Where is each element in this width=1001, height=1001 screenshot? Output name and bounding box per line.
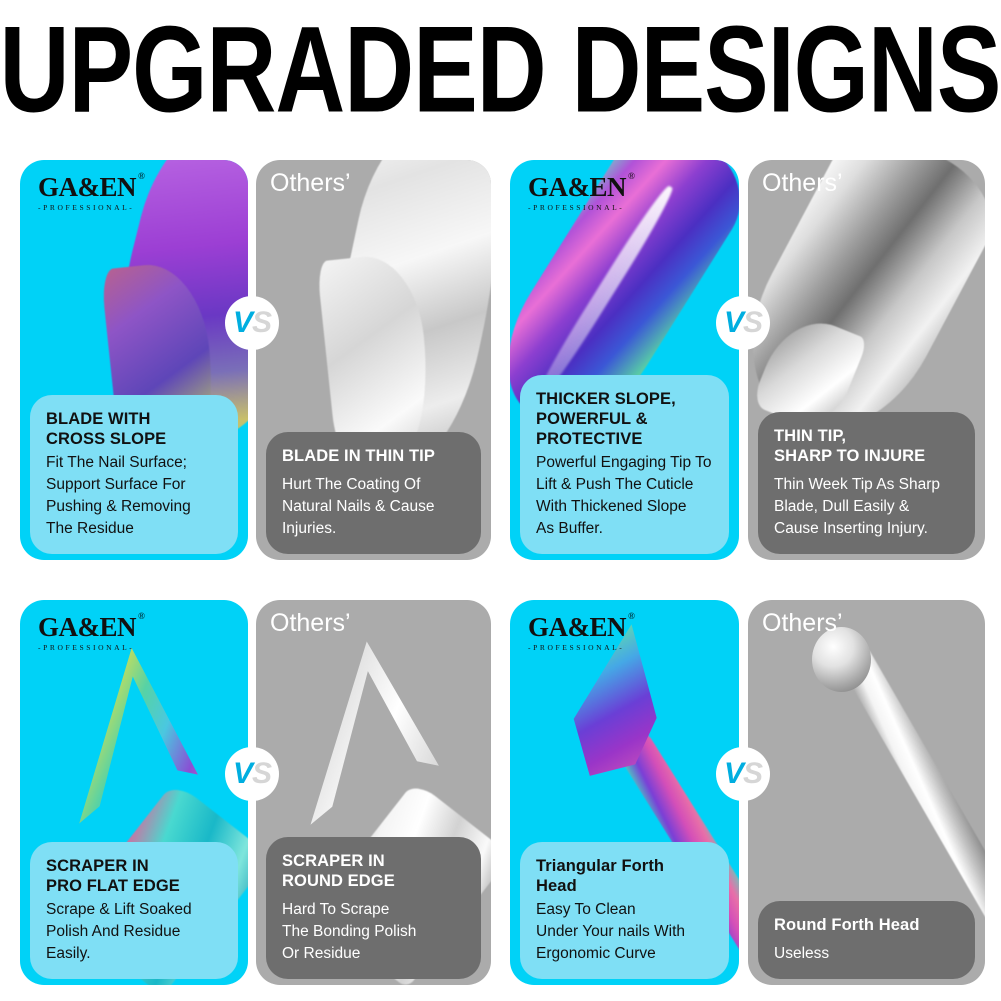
registered-trademark-icon: ® [138,172,145,181]
brand-logo: GA&EN ® -PROFESSIONAL- [38,614,136,652]
caption-body: Powerful Engaging Tip To Lift & Push The… [536,452,715,540]
vs-letter-v: V [233,759,252,789]
vs-badge: VS [716,747,770,801]
caption-box: THICKER SLOPE, POWERFUL & PROTECTIVE Pow… [520,375,729,554]
brand-logo-subtitle: -PROFESSIONAL- [38,644,136,652]
brand-logo: GA&EN ® -PROFESSIONAL- [528,174,626,212]
brand-logo: GA&EN ® -PROFESSIONAL- [38,174,136,212]
caption-body: Fit The Nail Surface; Support Surface Fo… [46,452,224,540]
vs-letter-v: V [724,308,743,338]
brand-logo: GA&EN ® -PROFESSIONAL- [528,614,626,652]
vs-badge: VS [225,747,279,801]
caption-title: BLADE WITH CROSS SLOPE [46,409,224,449]
caption-title: THICKER SLOPE, POWERFUL & PROTECTIVE [536,389,715,449]
caption-title: BLADE IN THIN TIP [282,446,467,466]
brand-logo-subtitle: -PROFESSIONAL- [38,204,136,212]
brand-panel-blade-cross-slope[interactable]: GA&EN ® -PROFESSIONAL- BLADE WITH CROSS … [20,160,248,560]
other-panel-blade-thin-tip[interactable]: Others’ BLADE IN THIN TIP Hurt The Coati… [256,160,491,560]
caption-box: BLADE WITH CROSS SLOPE Fit The Nail Surf… [30,395,238,554]
brand-panel-scraper-flat-edge[interactable]: GA&EN ® -PROFESSIONAL- SCRAPER IN PRO FL… [20,600,248,985]
vs-letter-v: V [233,308,252,338]
vs-letter-v: V [724,759,743,789]
vs-letter-s: S [743,759,762,789]
caption-body: Thin Week Tip As Sharp Blade, Dull Easil… [774,474,961,540]
registered-trademark-icon: ® [138,612,145,621]
vs-letter-s: S [743,308,762,338]
caption-body: Easy To Clean Under Your nails With Ergo… [536,899,715,965]
other-panel-thin-sharp-tip[interactable]: Others’ THIN TIP, SHARP TO INJURE Thin W… [748,160,985,560]
caption-body: Hurt The Coating Of Natural Nails & Caus… [282,474,467,540]
brand-logo-name: GA&EN [528,174,626,201]
brand-logo-subtitle: -PROFESSIONAL- [528,204,626,212]
caption-title: SCRAPER IN ROUND EDGE [282,851,467,891]
caption-title: THIN TIP, SHARP TO INJURE [774,426,961,466]
caption-box: Triangular Forth Head Easy To Clean Unde… [520,842,729,979]
caption-box: BLADE IN THIN TIP Hurt The Coating Of Na… [266,432,481,554]
others-label: Others’ [762,610,843,638]
vs-badge: VS [225,296,279,350]
caption-box: SCRAPER IN PRO FLAT EDGE Scrape & Lift S… [30,842,238,979]
caption-box: SCRAPER IN ROUND EDGE Hard To Scrape The… [266,837,481,979]
vs-letter-s: S [252,759,271,789]
caption-box: THIN TIP, SHARP TO INJURE Thin Week Tip … [758,412,975,554]
brand-logo-subtitle: -PROFESSIONAL- [528,644,626,652]
page-header: UPGRADED DESIGNS [0,0,1001,140]
caption-title: Round Forth Head [774,915,961,935]
vs-letter-s: S [252,308,271,338]
comparison-grid: GA&EN ® -PROFESSIONAL- BLADE WITH CROSS … [0,140,1001,1001]
caption-body: Hard To Scrape The Bonding Polish Or Res… [282,899,467,965]
caption-body: Useless [774,943,961,965]
page-title: UPGRADED DESIGNS [0,9,1001,132]
other-panel-round-forth-head[interactable]: Others’ Round Forth Head Useless [748,600,985,985]
registered-trademark-icon: ® [628,612,635,621]
other-panel-scraper-round-edge[interactable]: Others’ SCRAPER IN ROUND EDGE Hard To Sc… [256,600,491,985]
others-label: Others’ [270,610,351,638]
caption-box: Round Forth Head Useless [758,901,975,979]
brand-logo-name: GA&EN [528,614,626,641]
caption-title: SCRAPER IN PRO FLAT EDGE [46,856,224,896]
brand-logo-name: GA&EN [38,614,136,641]
caption-title: Triangular Forth Head [536,856,715,896]
brand-panel-thicker-slope[interactable]: GA&EN ® -PROFESSIONAL- THICKER SLOPE, PO… [510,160,739,560]
vs-badge: VS [716,296,770,350]
others-label: Others’ [762,170,843,198]
caption-body: Scrape & Lift Soaked Polish And Residue … [46,899,224,965]
brand-logo-name: GA&EN [38,174,136,201]
others-label: Others’ [270,170,351,198]
brand-panel-triangular-forth-head[interactable]: GA&EN ® -PROFESSIONAL- Triangular Forth … [510,600,739,985]
registered-trademark-icon: ® [628,172,635,181]
